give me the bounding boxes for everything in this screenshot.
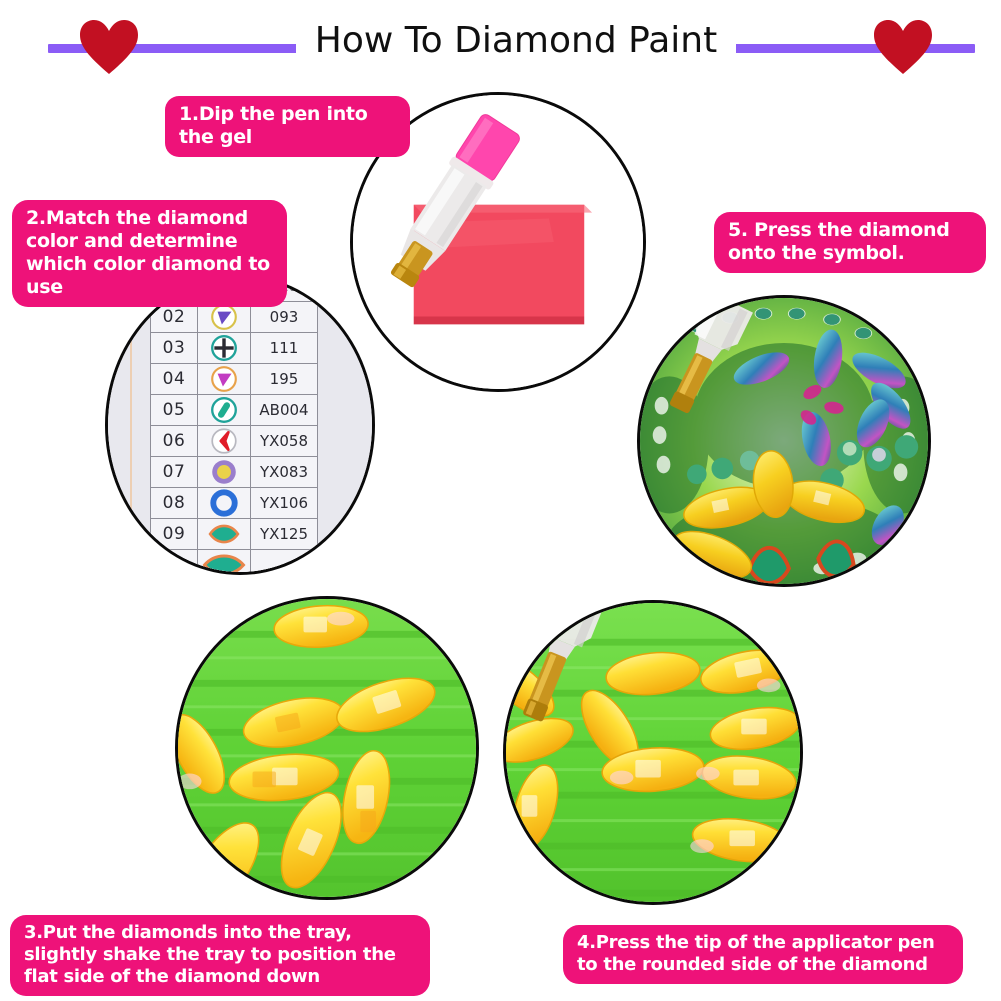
- page-header: How To Diamond Paint: [0, 0, 1001, 90]
- table-row: 09 YX125: [151, 519, 318, 550]
- chart-code: YX125: [251, 519, 318, 550]
- chart-number: 07: [151, 457, 198, 488]
- chart-number: 09: [151, 519, 198, 550]
- chart-code: YX058: [251, 426, 318, 457]
- step-5-photo: [637, 295, 931, 587]
- chart-number: 04: [151, 364, 198, 395]
- heart-icon: [78, 18, 140, 76]
- filled-dot-icon: [198, 457, 251, 488]
- step-1-label: 1.Dip the pen into the gel: [165, 96, 410, 157]
- color-chart-table: 01 028 02 093 03 111 04: [150, 275, 318, 575]
- page-title: How To Diamond Paint: [315, 20, 717, 61]
- page-title-wrap: How To Diamond Paint: [296, 20, 736, 66]
- step-5-label: 5. Press the diamond onto the symbol.: [714, 212, 986, 273]
- table-row: 08 YX106: [151, 488, 318, 519]
- table-row: 07 YX083: [151, 457, 318, 488]
- chart-code: 195: [251, 364, 318, 395]
- heart-icon: [872, 18, 934, 76]
- step-3-photo: [175, 596, 479, 900]
- chart-number: 08: [151, 488, 198, 519]
- step-3-label: 3.Put the diamonds into the tray, slight…: [10, 915, 430, 996]
- chart-code: YX106: [251, 488, 318, 519]
- table-row: 06 YX058: [151, 426, 318, 457]
- step-4-label: 4.Press the tip of the applicator pen to…: [563, 925, 963, 984]
- plus-icon: [198, 333, 251, 364]
- table-row: 04 195: [151, 364, 318, 395]
- step-2-label: 2.Match the diamond color and determine …: [12, 200, 287, 307]
- chart-margin-line: [130, 278, 132, 575]
- chart-code: [251, 550, 318, 576]
- table-row: 03 111: [151, 333, 318, 364]
- table-row: [151, 550, 318, 576]
- step-4-photo: [503, 600, 803, 905]
- chart-code: AB004: [251, 395, 318, 426]
- chart-code: YX083: [251, 457, 318, 488]
- ring-icon: [198, 488, 251, 519]
- leaf-icon: [198, 519, 251, 550]
- chart-number: 05: [151, 395, 198, 426]
- leaf-icon: [198, 550, 251, 576]
- chart-number: 06: [151, 426, 198, 457]
- chart-number: [151, 550, 198, 576]
- left-arrow-icon: [198, 426, 251, 457]
- chart-number: 03: [151, 333, 198, 364]
- triangle-icon: [198, 364, 251, 395]
- step-2-photo: 01 028 02 093 03 111 04: [105, 275, 375, 575]
- header-rule-right: [735, 44, 975, 53]
- slash-oval-icon: [198, 395, 251, 426]
- chart-code: 111: [251, 333, 318, 364]
- table-row: 05 AB004: [151, 395, 318, 426]
